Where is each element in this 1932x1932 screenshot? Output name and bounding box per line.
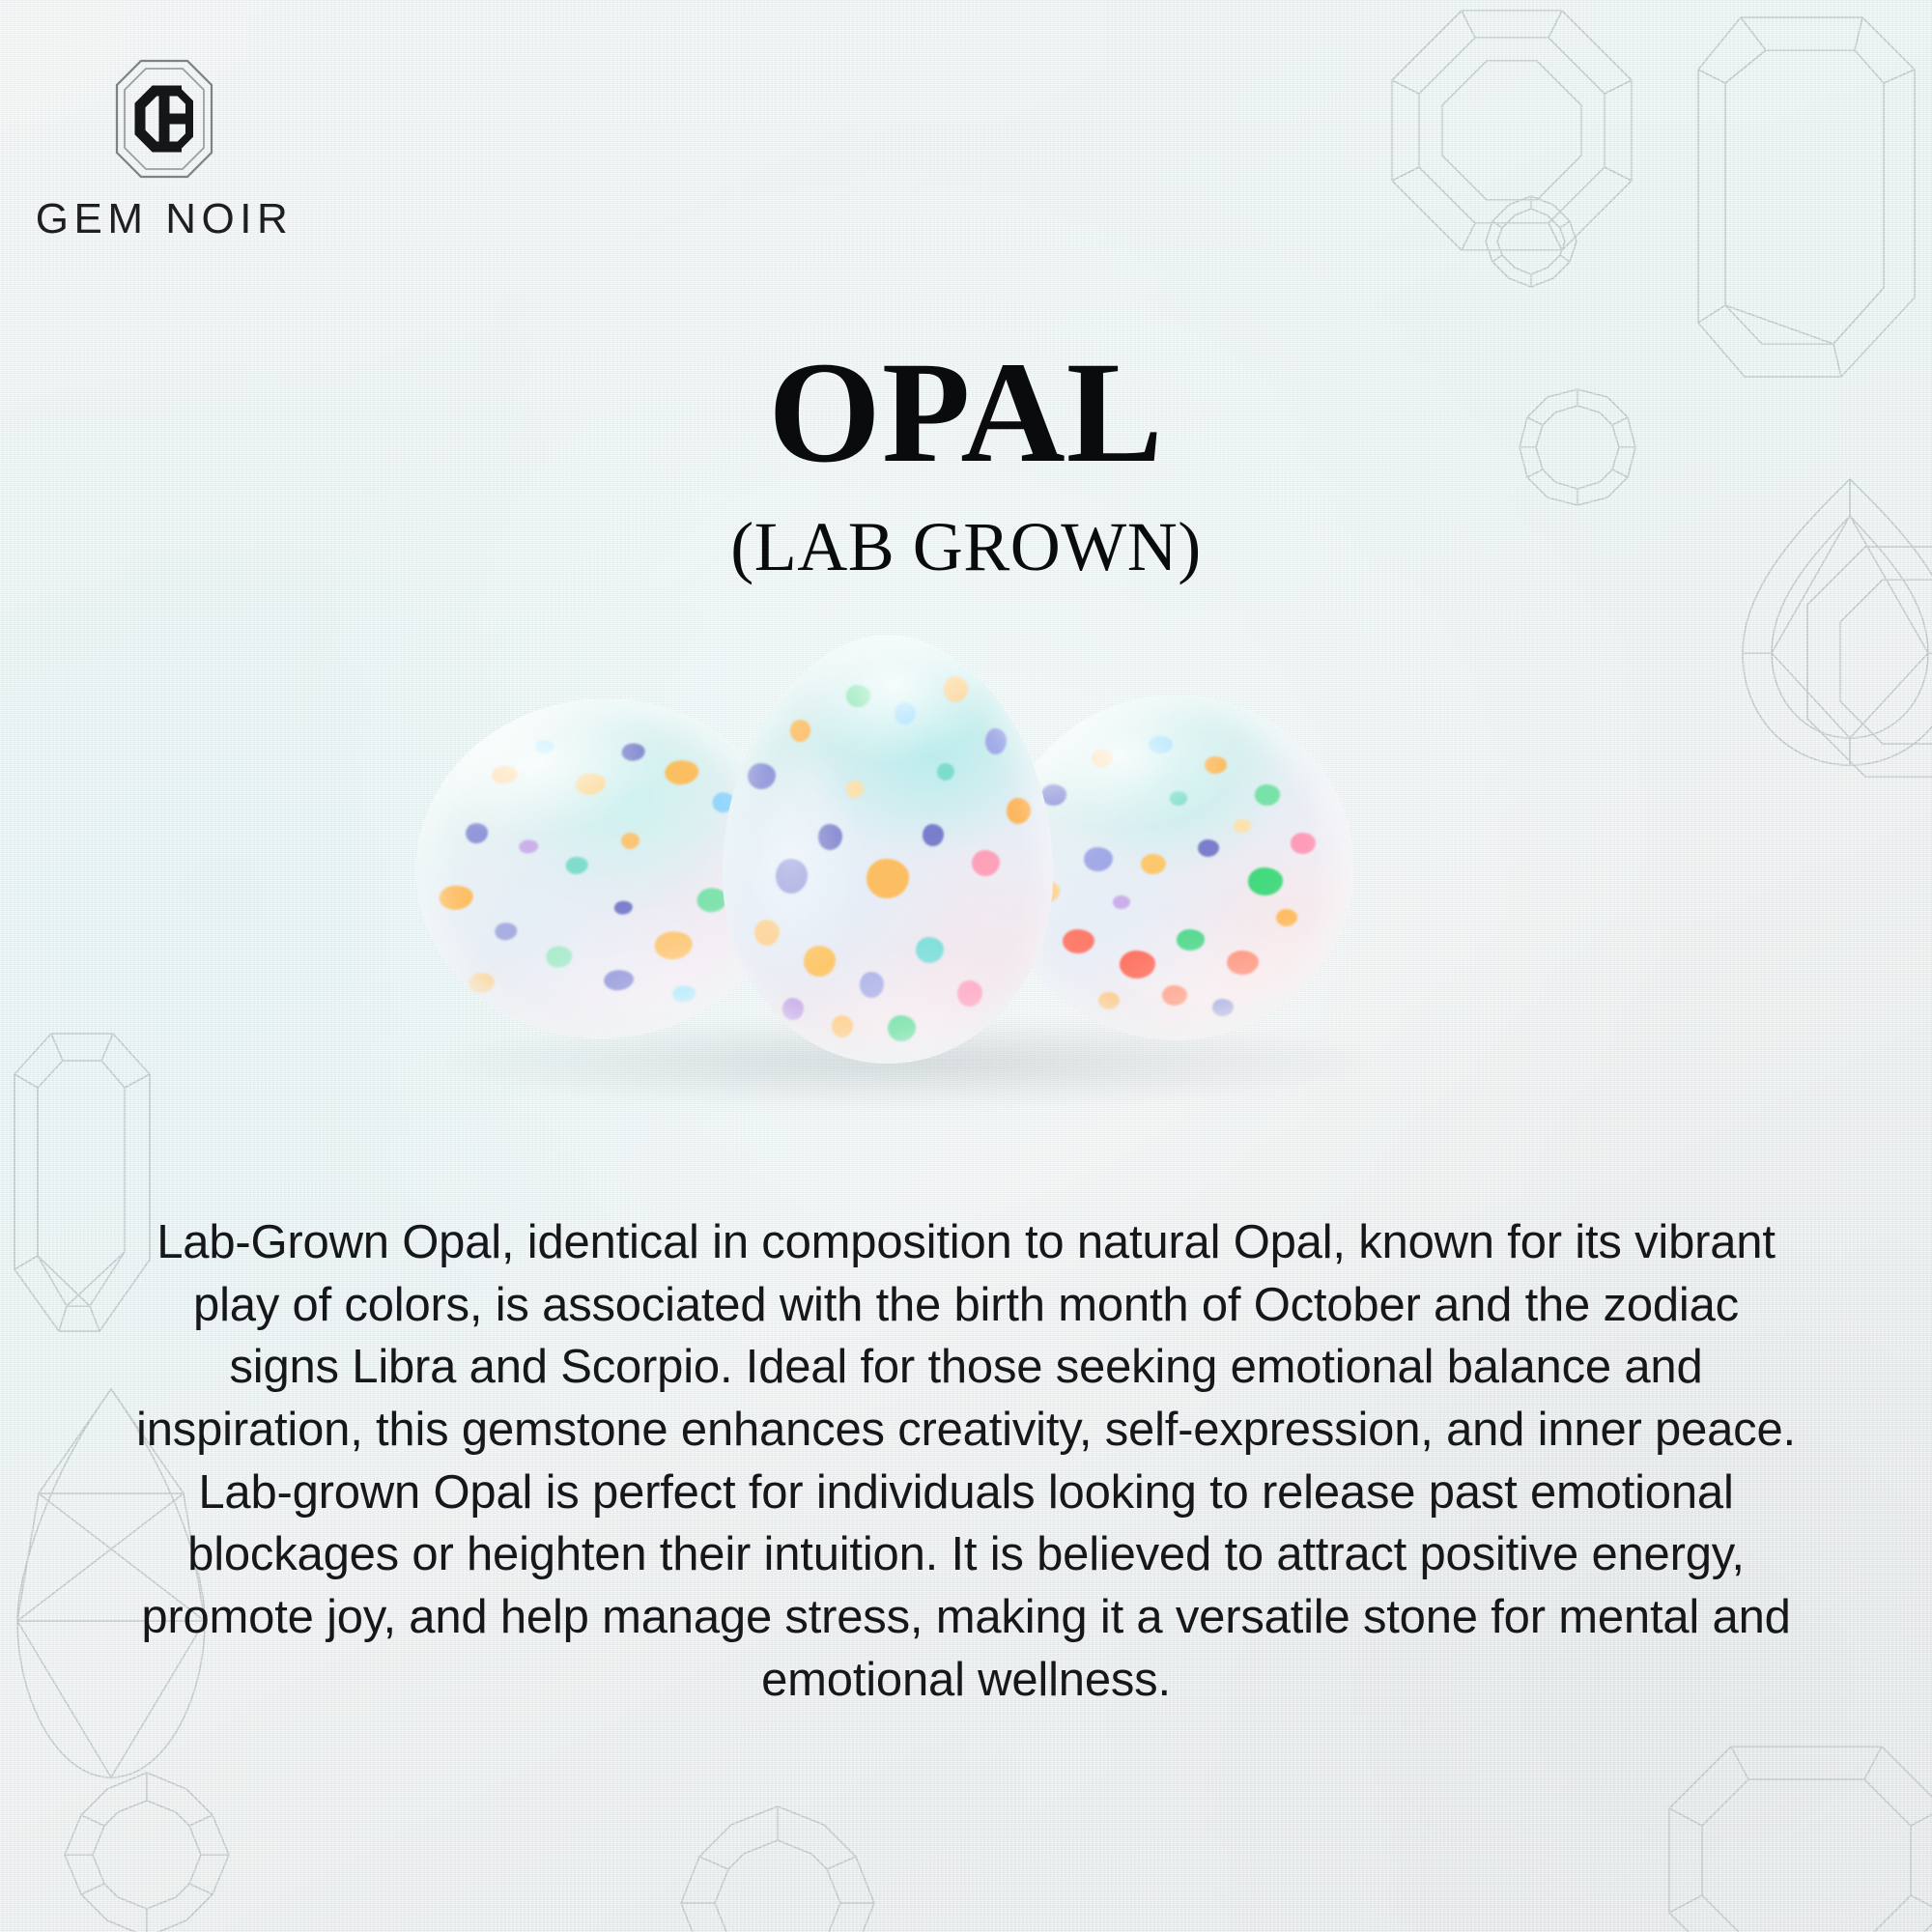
gemstone-description: Lab-Grown Opal, identical in composition… [135,1211,1797,1711]
page-subtitle: (LAB GROWN) [0,512,1932,582]
emerald-cut-octagon-gem-watermark [1386,5,1637,256]
page-title: OPAL [0,340,1932,485]
brand-name: GEM NOIR [29,195,299,243]
round-brilliant-gem-watermark-bottom [676,1802,879,1932]
gem-noir-monogram-icon [114,58,214,180]
brand-logo: GEM NOIR [29,58,299,243]
gemstone-image-stage [0,633,1932,1135]
round-brilliant-gem-watermark-lower [60,1768,234,1932]
title-block: OPAL (LAB GROWN) [0,340,1932,582]
gemstone-info-poster: GEM NOIR OPAL (LAB GROWN) [0,0,1932,1932]
round-brilliant-gem-watermark-upper [1483,193,1579,290]
emerald-cut-gem-watermark-bottom [1662,1739,1932,1932]
gemstone-group [406,633,1526,1116]
